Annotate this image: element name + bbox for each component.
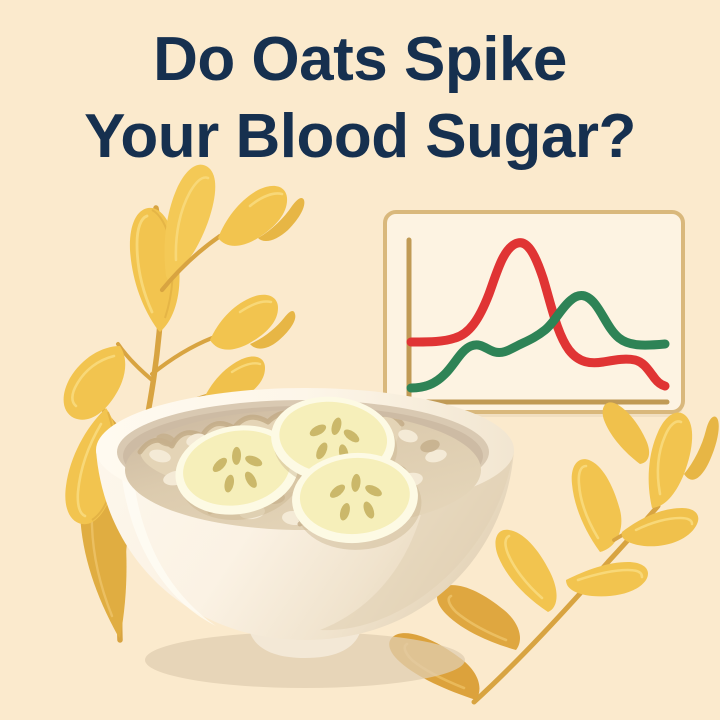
poster-canvas: Do Oats Spike Your Blood Sugar? <box>0 0 720 720</box>
page-title: Do Oats Spike Your Blood Sugar? <box>0 22 720 176</box>
title-line-2: Your Blood Sugar? <box>0 99 720 176</box>
bowl-group <box>96 388 514 688</box>
title-line-1: Do Oats Spike <box>0 22 720 99</box>
